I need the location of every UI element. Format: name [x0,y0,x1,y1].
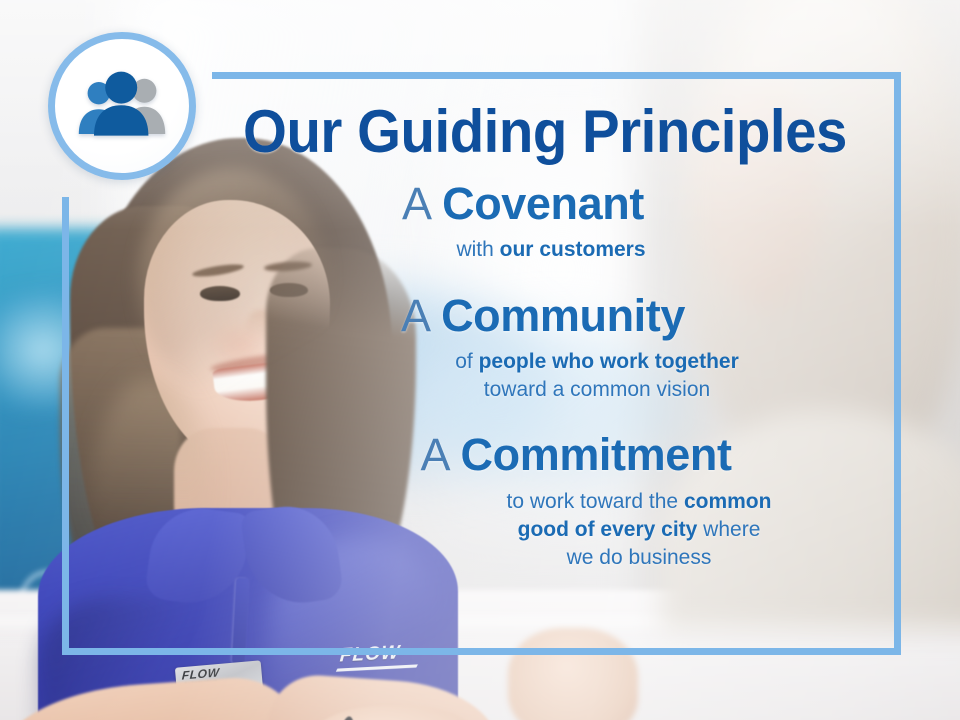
principle-word: Covenant [442,178,644,229]
principle-article: A [420,429,448,480]
subtext-line1-bold: people who work together [479,350,739,373]
subtext-line1-plain: of [455,350,478,373]
subtext-line1-bold: common [684,490,772,513]
principle-community: A Community of people who work together … [200,291,890,405]
subtext-line2-plain: where [697,518,760,541]
principle-subtext: of people who work together toward a com… [200,348,886,404]
principle-heading: A Community [200,291,886,341]
principle-word: Community [441,290,685,341]
principle-heading: A Commitment [262,430,890,480]
principles-content: Our Guiding Principles A Covenant with o… [200,78,890,638]
subtext-line3: we do business [567,546,712,569]
guiding-principles-poster: FLOW FLOW Automotive [0,0,960,720]
principle-subtext: with our customers [200,236,846,264]
page-title: Our Guiding Principles [221,100,870,163]
customer-hand [508,628,638,720]
principle-commitment: A Commitment to work toward the common g… [200,430,890,572]
subtext-line1-plain: to work toward the [507,490,684,513]
subtext-line2: toward a common vision [484,378,710,401]
principle-subtext: to work toward the common good of every … [262,488,890,572]
subtext-line2-bold: good of every city [518,518,698,541]
people-group-badge [48,32,196,180]
flow-chest-logo: FLOW [339,642,401,667]
principle-article: A [401,290,429,341]
principle-covenant: A Covenant with our customers [200,179,890,265]
subtext-part-plain: with [456,238,499,261]
principle-heading: A Covenant [200,179,846,229]
people-group-icon [74,70,170,142]
subtext-part-bold: our customers [500,238,646,261]
principle-article: A [402,178,430,229]
principle-word: Commitment [461,429,732,480]
